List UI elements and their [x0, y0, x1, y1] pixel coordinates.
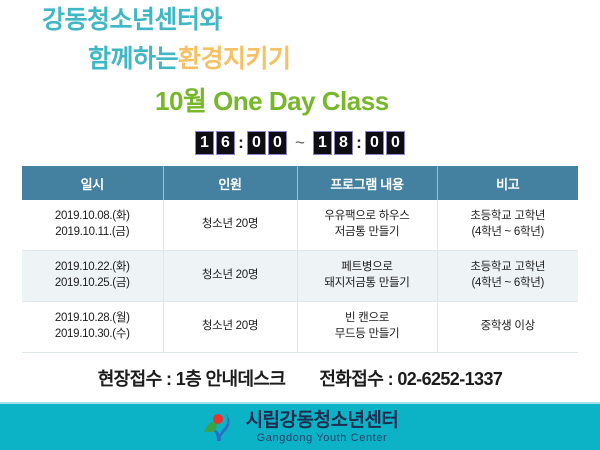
headline-line-2-orange: 환경지키기	[178, 45, 291, 73]
footer-bar: 시립강동청소년센터 Gangdong Youth Center	[0, 404, 600, 450]
end-time-digit-3: 0	[365, 131, 384, 155]
cell-date: 2019.10.22.(화) 2019.10.25.(금)	[22, 251, 163, 302]
end-time-colon: :	[355, 131, 363, 155]
cell-program-line-2: 저금통 만들기	[300, 225, 435, 241]
cell-date-line-2: 2019.10.30.(수)	[24, 327, 161, 343]
phone-registration-text: 전화접수 : 02-6252-1337	[319, 365, 502, 391]
table-header-date: 일시	[22, 166, 163, 200]
cell-note: 초등학교 고학년 (4학년 ~ 6학년)	[437, 200, 578, 251]
cell-program-line-1: 빈 캔으로	[300, 311, 435, 327]
poster-canvas: 강동청소년센터와 함께하는환경지키기 10월 One Day Class 1 6…	[0, 0, 600, 450]
onsite-registration-text: 현장접수 : 1층 안내데스크	[98, 365, 286, 391]
cell-program: 빈 캔으로 무드등 만들기	[297, 302, 437, 353]
cell-note-line-1: 초등학교 고학년	[440, 209, 577, 225]
cell-date-line-1: 2019.10.22.(화)	[24, 260, 161, 276]
headline-line-2: 함께하는환경지키기	[88, 47, 291, 72]
table-header-capacity: 인원	[163, 166, 297, 200]
footer-name-korean: 시립강동청소년센터	[246, 411, 399, 430]
cell-program-line-2: 무드등 만들기	[300, 327, 435, 343]
table-header-note: 비고	[437, 166, 578, 200]
cell-date-line-2: 2019.10.11.(금)	[24, 225, 161, 241]
table-row: 2019.10.28.(월) 2019.10.30.(수) 청소년 20명 빈 …	[22, 302, 578, 353]
cell-note: 중학생 이상	[437, 302, 578, 353]
time-display: 1 6 : 0 0 ~ 1 8 : 0 0	[0, 131, 600, 155]
cell-capacity: 청소년 20명	[163, 200, 297, 251]
start-time-digit-3: 0	[247, 131, 266, 155]
cell-note-line-2: (4학년 ~ 6학년)	[440, 276, 577, 292]
schedule-table: 일시 인원 프로그램 내용 비고 2019.10.08.(화) 2019.10.…	[22, 166, 578, 353]
table-row: 2019.10.08.(화) 2019.10.11.(금) 청소년 20명 우유…	[22, 200, 578, 251]
start-time-digit-2: 6	[216, 131, 235, 155]
cell-date-line-1: 2019.10.28.(월)	[24, 311, 161, 327]
cell-capacity: 청소년 20명	[163, 302, 297, 353]
contact-row: 현장접수 : 1층 안내데스크 전화접수 : 02-6252-1337	[0, 365, 600, 391]
start-time-digit-1: 1	[195, 131, 214, 155]
cell-date: 2019.10.08.(화) 2019.10.11.(금)	[22, 200, 163, 251]
cell-capacity: 청소년 20명	[163, 251, 297, 302]
cell-program-line-1: 우유팩으로 하우스	[300, 209, 435, 225]
cell-program: 우유팩으로 하우스 저금통 만들기	[297, 200, 437, 251]
cell-program-line-1: 페트병으로	[300, 260, 435, 276]
cell-date-line-2: 2019.10.25.(금)	[24, 276, 161, 292]
end-time-digit-1: 1	[313, 131, 332, 155]
headline-line-1: 강동청소년센터와	[42, 8, 222, 33]
headline-line-3: 10월 One Day Class	[155, 88, 389, 114]
headline-line-2-teal: 함께하는	[88, 45, 178, 73]
end-time-digit-2: 8	[334, 131, 353, 155]
cell-note-line-2: (4학년 ~ 6학년)	[440, 225, 577, 241]
gangdong-youth-center-logo-icon	[202, 411, 236, 443]
start-time-colon: :	[237, 131, 245, 155]
cell-date: 2019.10.28.(월) 2019.10.30.(수)	[22, 302, 163, 353]
time-range-separator: ~	[289, 131, 311, 155]
start-time-digit-4: 0	[268, 131, 287, 155]
table-header-row: 일시 인원 프로그램 내용 비고	[22, 166, 578, 200]
cell-date-line-1: 2019.10.08.(화)	[24, 209, 161, 225]
cell-program: 페트병으로 돼지저금통 만들기	[297, 251, 437, 302]
end-time-digit-4: 0	[386, 131, 405, 155]
footer-name-english: Gangdong Youth Center	[257, 433, 388, 444]
cell-note-line-1: 초등학교 고학년	[440, 260, 577, 276]
table-row: 2019.10.22.(화) 2019.10.25.(금) 청소년 20명 페트…	[22, 251, 578, 302]
cell-note: 초등학교 고학년 (4학년 ~ 6학년)	[437, 251, 578, 302]
footer-text-block: 시립강동청소년센터 Gangdong Youth Center	[246, 411, 399, 444]
table-header-program: 프로그램 내용	[297, 166, 437, 200]
cell-program-line-2: 돼지저금통 만들기	[300, 276, 435, 292]
